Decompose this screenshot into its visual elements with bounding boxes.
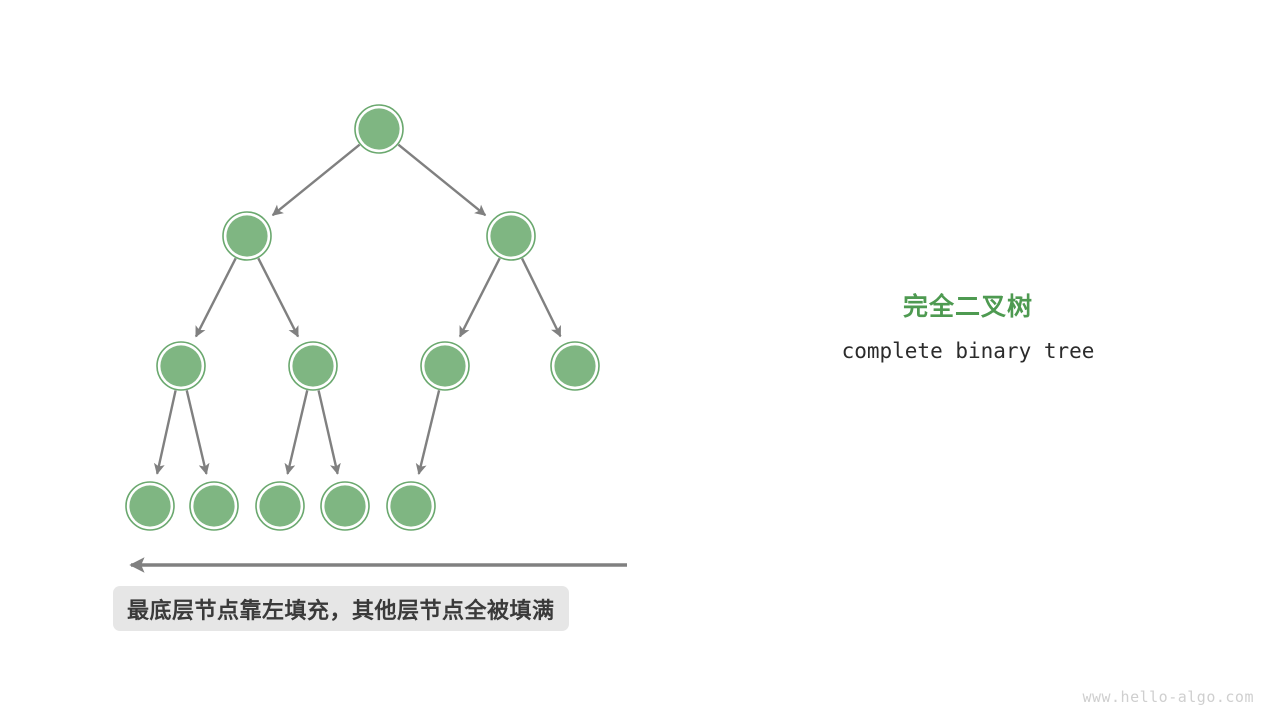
tree-edge bbox=[157, 390, 175, 473]
tree-node-fill bbox=[193, 485, 234, 526]
tree-edge bbox=[196, 258, 236, 336]
tree-edge bbox=[258, 258, 298, 336]
tree-node[interactable] bbox=[289, 342, 337, 390]
tree-node-fill bbox=[160, 345, 201, 386]
tree-node[interactable] bbox=[421, 342, 469, 390]
tree-node[interactable] bbox=[223, 212, 271, 260]
tree-node[interactable] bbox=[387, 482, 435, 530]
tree-node[interactable] bbox=[321, 482, 369, 530]
tree-edge bbox=[288, 390, 308, 474]
caption-box: 最底层节点靠左填充，其他层节点全被填满 bbox=[113, 586, 569, 631]
tree-node[interactable] bbox=[190, 482, 238, 530]
legend-subtitle: complete binary tree bbox=[790, 339, 1146, 363]
tree-node[interactable] bbox=[487, 212, 535, 260]
tree-edge bbox=[273, 145, 360, 215]
tree-node-fill bbox=[490, 215, 531, 256]
caption-text: 最底层节点靠左填充，其他层节点全被填满 bbox=[127, 593, 555, 625]
watermark: www.hello-algo.com bbox=[1082, 688, 1254, 706]
tree-node-layer bbox=[126, 105, 599, 530]
tree-node[interactable] bbox=[157, 342, 205, 390]
legend-title: 完全二叉树 bbox=[790, 292, 1146, 322]
tree-edge bbox=[460, 258, 500, 336]
tree-node-fill bbox=[324, 485, 365, 526]
tree-edge bbox=[187, 390, 207, 474]
tree-edge-layer bbox=[157, 145, 560, 474]
tree-node-fill bbox=[259, 485, 300, 526]
tree-edge bbox=[319, 390, 338, 473]
tree-node[interactable] bbox=[256, 482, 304, 530]
tree-node-fill bbox=[554, 345, 595, 386]
tree-node-fill bbox=[424, 345, 465, 386]
tree-node-fill bbox=[226, 215, 267, 256]
tree-edge bbox=[419, 390, 439, 474]
tree-node[interactable] bbox=[126, 482, 174, 530]
legend: 完全二叉树 complete binary tree bbox=[790, 292, 1146, 363]
tree-edge bbox=[522, 258, 560, 336]
tree-node[interactable] bbox=[551, 342, 599, 390]
tree-node-fill bbox=[358, 108, 399, 149]
tree-node-fill bbox=[129, 485, 170, 526]
tree-node-fill bbox=[390, 485, 431, 526]
tree-node[interactable] bbox=[355, 105, 403, 153]
tree-node-fill bbox=[292, 345, 333, 386]
tree-edge bbox=[398, 145, 485, 215]
